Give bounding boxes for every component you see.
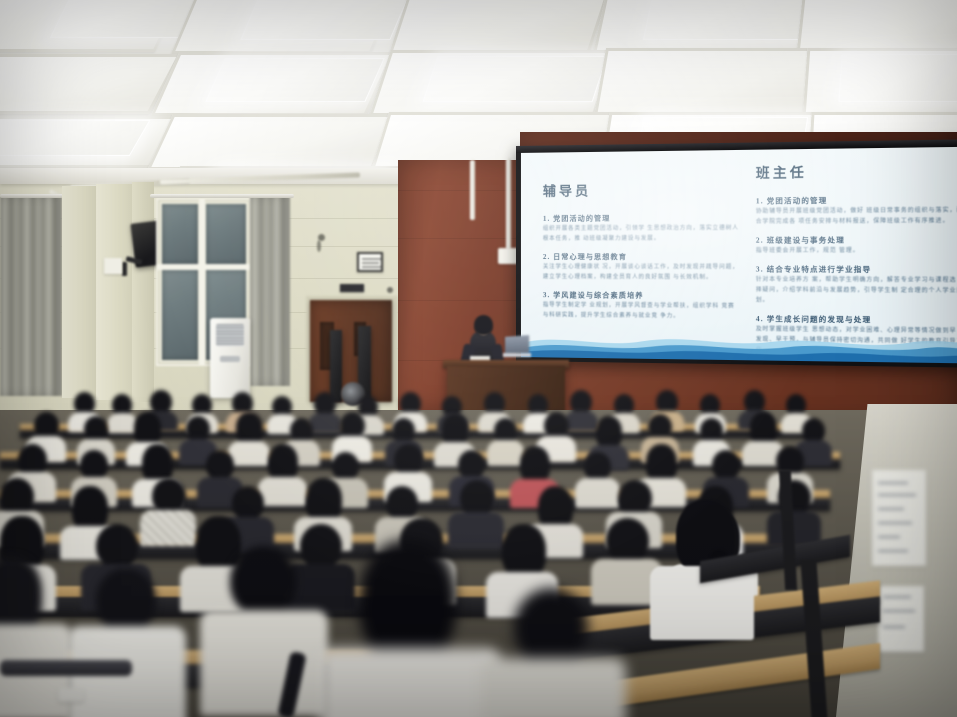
slide-column-left: 辅导员 1. 党团活动的管理 组织开展各类主题党团活动，引领学 生思想政治方向，… — [543, 162, 741, 325]
air-conditioner-panel — [220, 356, 240, 362]
wall-pilaster — [62, 186, 98, 398]
laptop-base — [503, 353, 531, 357]
slide-item: 2. 日常心理与思想教育 关注学生心理健康状 况，开展谈心谈话工作，及时发现并疏… — [543, 252, 741, 283]
wall-bracket — [317, 240, 321, 252]
slide-wave-decoration — [521, 323, 957, 364]
slide-item: 3. 学风建设与综合素质培养 指导学生制定学 业规划，开展学风督查与学业帮扶，组… — [543, 290, 741, 322]
window-pane — [162, 204, 198, 264]
slide-item-body: 指导班委会开展工作，规范 管理。 — [756, 246, 957, 257]
curtain-rod — [0, 194, 66, 198]
presenter-hair — [474, 315, 493, 335]
presentation-slide: 辅导员 1. 党团活动的管理 组织开展各类主题党团活动，引领学 生思想政治方向，… — [521, 147, 957, 364]
air-conditioner-vent — [216, 324, 244, 346]
window-curtain-left[interactable] — [0, 196, 62, 396]
slide-item-title: 2. 班级建设与事务处理 — [756, 235, 957, 246]
slide-item: 2. 班级建设与事务处理 指导班委会开展工作，规范 管理。 — [756, 235, 957, 256]
room-sign — [340, 284, 364, 292]
air-conditioner — [210, 318, 250, 398]
wall-fixture-dot — [387, 287, 393, 293]
wall-notice-sheet — [878, 586, 924, 652]
slide-columns: 辅导员 1. 党团活动的管理 组织开展各类主题党团活动，引领学 生思想政治方向，… — [521, 147, 957, 328]
curtain-rod — [150, 194, 294, 198]
slide-item-title: 2. 日常心理与思想教育 — [543, 252, 741, 262]
ceiling-drop-rod — [506, 158, 511, 250]
window-mullion — [158, 264, 250, 270]
slide-item-body: 针对本专业培养方 案，帮助学生明确方向，解答专业学习与课程选 择疑问，介绍学科前… — [756, 275, 957, 307]
slide-item: 1. 党团活动的管理 协助辅导员开展班级党团活动，做好 班级日常事务的组织与落实… — [756, 195, 957, 228]
ceiling-drop-rod — [470, 160, 475, 220]
slide-item-body: 组织开展各类主题党团活动，引领学 生思想政治方向，落实立德树人根本任务，推 动班… — [543, 223, 741, 244]
wall-notice-sheet — [872, 470, 926, 566]
framed-notice — [357, 252, 383, 272]
slide-item-body: 协助辅导员开展班级党团活动，做好 班级日常事务的组织与落实，配合学院完成各 项任… — [756, 205, 957, 227]
wall-pilaster — [132, 182, 154, 402]
slide-item: 1. 党团活动的管理 组织开展各类主题党团活动，引领学 生思想政治方向，落实立德… — [543, 213, 741, 244]
wall-pilaster — [96, 184, 136, 400]
desk-object-pencil-case — [0, 660, 132, 676]
speaker-bracket — [122, 262, 127, 276]
slide-item: 3. 结合专业特点进行学业指导 针对本专业培养方 案，帮助学生明确方向，解答专业… — [756, 264, 957, 307]
laptop-screen — [505, 335, 529, 355]
lecture-hall-photo: 辅导员 1. 党团活动的管理 组织开展各类主题党团活动，引领学 生思想政治方向，… — [0, 0, 957, 717]
window-pane — [206, 204, 246, 264]
slide-item-body: 指导学生制定学 业规划，开展学风督查与学业帮扶，组织学科 竞赛与科研实践，提升学… — [543, 300, 741, 322]
projection-screen[interactable]: 辅导员 1. 党团活动的管理 组织开展各类主题党团活动，引领学 生思想政治方向，… — [516, 139, 957, 368]
window-curtain-right[interactable] — [250, 196, 290, 386]
window-pane — [162, 270, 198, 360]
ceiling-mounted-device — [498, 248, 518, 264]
wall-junction-box — [104, 258, 122, 274]
slide-heading-right: 班主任 — [756, 160, 957, 182]
desk-object-eraser — [58, 688, 84, 702]
slide-item-body: 关注学生心理健康状 况，开展谈心谈话工作，及时发现并疏导问题， 建立学生心理档案… — [543, 262, 741, 283]
slide-heading-left: 辅导员 — [543, 179, 741, 200]
slide-column-right: 班主任 1. 党团活动的管理 协助辅导员开展班级党团活动，做好 班级日常事务的组… — [756, 160, 957, 328]
window-mullion — [199, 200, 205, 364]
slide-item-title: 3. 结合专业特点进行学业指导 — [756, 264, 957, 275]
